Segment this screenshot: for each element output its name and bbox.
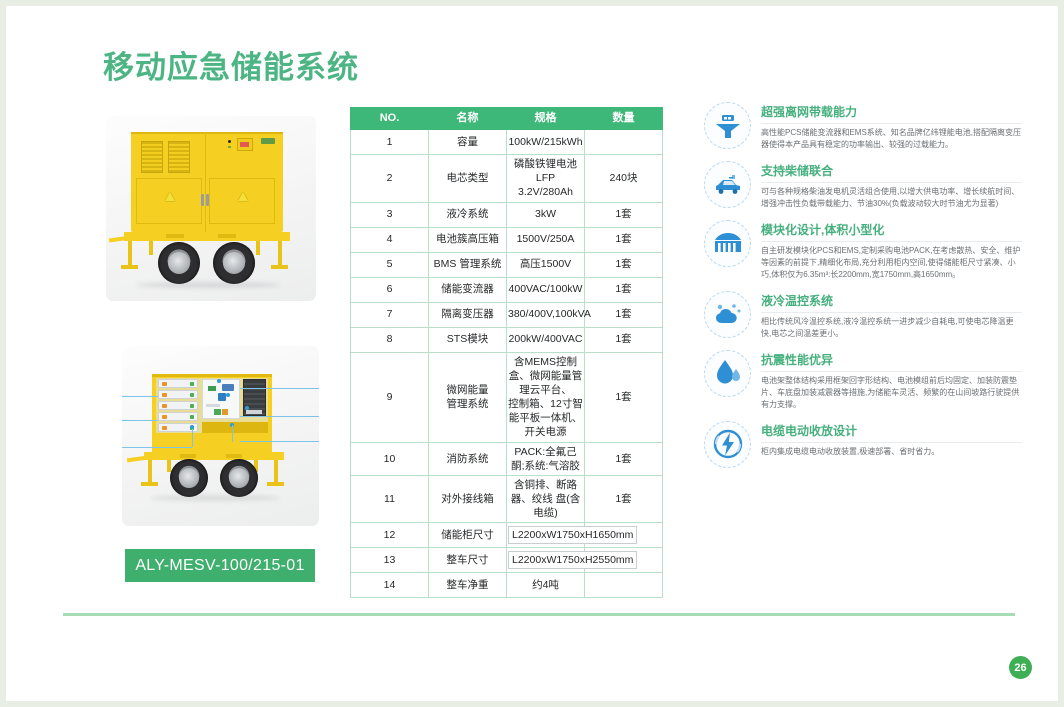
cell-spec: 3kW: [507, 202, 585, 227]
feature-description: 相比传统风冷温控系统,液冷温控系统一进步减少自耗电,可使电芯降温更快,电芯之间温…: [761, 312, 1022, 341]
cell-spec: 含MEMS控制盒、微网能量管理云平台、控制箱、12寸智能平板一体机、开关电源: [507, 352, 585, 442]
feature-item: 模块化设计,体积小型化自主研发模块化PCS和EMS,定制采购电池PACK,在考虑…: [704, 220, 1022, 282]
cell-spec: 380/400V,100kVA: [507, 302, 585, 327]
feature-item: 电缆电动收放设计柜内集成电缆电动收放装置,极速部署、省时省力。: [704, 421, 1022, 468]
feature-body: 抗震性能优异电池架整体结构采用框架回字形结构、电池模组前后均固定、加装防震垫片、…: [761, 350, 1022, 412]
lightning-bolt-icon: [704, 421, 751, 468]
feature-description: 高性能PCS储能变流器和EMS系统、知名品牌亿纬锂能电池,搭配隔离变压器使得本产…: [761, 123, 1022, 152]
cell-no: 11: [351, 475, 429, 523]
cell-qty: 1套: [585, 277, 663, 302]
feature-title: 超强离网带载能力: [761, 103, 1022, 120]
feature-item: 超强离网带载能力高性能PCS储能变流器和EMS系统、知名品牌亿纬锂能电池,搭配隔…: [704, 102, 1022, 152]
table-row: 6储能变流器400VAC/100kW1套: [351, 277, 663, 302]
feature-description: 柜内集成电缆电动收放装置,极速部署、省时省力。: [761, 442, 1022, 458]
cell-name: BMS 管理系统: [429, 252, 507, 277]
table-row: 5BMS 管理系统高压1500V1套: [351, 252, 663, 277]
feature-title: 电缆电动收放设计: [761, 422, 1022, 439]
column-header-no: NO.: [351, 108, 429, 130]
feature-body: 超强离网带载能力高性能PCS储能变流器和EMS系统、知名品牌亿纬锂能电池,搭配隔…: [761, 102, 1022, 152]
cell-no: 1: [351, 130, 429, 155]
cell-name: 电池簇高压箱: [429, 227, 507, 252]
feature-body: 模块化设计,体积小型化自主研发模块化PCS和EMS,定制采购电池PACK,在考虑…: [761, 220, 1022, 282]
feature-description: 自主研发模块化PCS和EMS,定制采购电池PACK,在考虑散热、安全、维护等因素…: [761, 241, 1022, 282]
cell-name: 整车净重: [429, 573, 507, 598]
table-row: 11对外接线箱含铜排、断路器、绞线 盘(含电缆)1套: [351, 475, 663, 523]
table-row: 12储能柜尺寸L2200xW1750xH1650mm: [351, 523, 663, 548]
electric-car-charging-icon: [704, 161, 751, 208]
table-row: 13整车尺寸L2200xW1750xH2550mm: [351, 548, 663, 573]
cell-no: 14: [351, 573, 429, 598]
cell-name: 储能变流器: [429, 277, 507, 302]
table-row: 9微网能量管理系统含MEMS控制盒、微网能量管理云平台、控制箱、12寸智能平板一…: [351, 352, 663, 442]
cell-spec: 200kW/400VAC: [507, 327, 585, 352]
column-header-spec: 规格: [507, 108, 585, 130]
cell-name: 容量: [429, 130, 507, 155]
cell-name: 对外接线箱: [429, 475, 507, 523]
cell-no: 2: [351, 155, 429, 203]
feature-body: 液冷温控系统相比传统风冷温控系统,液冷温控系统一进步减少自耗电,可使电芯降温更快…: [761, 291, 1022, 341]
specification-table: NO. 名称 规格 数量 1容量100kW/215kWh2电芯类型磷酸铁锂电池 …: [350, 107, 663, 598]
slide-canvas: 移动应急储能系统: [0, 0, 1064, 707]
page-title: 移动应急储能系统: [103, 42, 359, 87]
cell-spec: L2200xW1750xH2550mm: [507, 548, 585, 573]
feature-item: 抗震性能优异电池架整体结构采用框架回字形结构、电池模组前后均固定、加装防震垫片、…: [704, 350, 1022, 412]
cell-qty: 1套: [585, 475, 663, 523]
cell-no: 3: [351, 202, 429, 227]
table-row: 8STS模块200kW/400VAC1套: [351, 327, 663, 352]
table-row: 2电芯类型磷酸铁锂电池 LFP 3.2V/280Ah240块: [351, 155, 663, 203]
table-row: 7隔离变压器380/400V,100kVA1套: [351, 302, 663, 327]
cell-spec: PACK:全氟己酮;系统:气溶胶: [507, 442, 585, 475]
table-row: 3液冷系统3kW1套: [351, 202, 663, 227]
feature-list: 超强离网带载能力高性能PCS储能变流器和EMS系统、知名品牌亿纬锂能电池,搭配隔…: [704, 102, 1022, 477]
cell-no: 5: [351, 252, 429, 277]
feature-item: 液冷温控系统相比传统风冷温控系统,液冷温控系统一进步减少自耗电,可使电芯降温更快…: [704, 291, 1022, 341]
cell-name: STS模块: [429, 327, 507, 352]
cell-qty: 1套: [585, 352, 663, 442]
table-row: 4电池簇高压箱1500V/250A1套: [351, 227, 663, 252]
feature-description: 电池架整体结构采用框架回字形结构、电池模组前后均固定、加装防震垫片、车底盘加装减…: [761, 371, 1022, 412]
cell-name: 整车尺寸: [429, 548, 507, 573]
cell-qty: [585, 573, 663, 598]
cell-spec: 含铜排、断路器、绞线 盘(含电缆): [507, 475, 585, 523]
cell-no: 10: [351, 442, 429, 475]
modular-rack-icon: [704, 220, 751, 267]
table-row: 14整车净重约4吨: [351, 573, 663, 598]
cell-no: 12: [351, 523, 429, 548]
cell-no: 4: [351, 227, 429, 252]
bottom-divider: [63, 613, 1015, 616]
cell-no: 13: [351, 548, 429, 573]
column-header-qty: 数量: [585, 108, 663, 130]
cell-qty: 1套: [585, 202, 663, 227]
cell-spec: 磷酸铁锂电池 LFP 3.2V/280Ah: [507, 155, 585, 203]
cell-qty: 240块: [585, 155, 663, 203]
cell-qty: 1套: [585, 327, 663, 352]
table-row: 1容量100kW/215kWh: [351, 130, 663, 155]
battery-funnel-icon: [704, 102, 751, 149]
table-body: 1容量100kW/215kWh2电芯类型磷酸铁锂电池 LFP 3.2V/280A…: [351, 130, 663, 598]
cell-spec: 400VAC/100kW: [507, 277, 585, 302]
cell-no: 9: [351, 352, 429, 442]
cell-name: 消防系统: [429, 442, 507, 475]
product-photo-closed-trailer: [106, 116, 316, 301]
cell-spec: L2200xW1750xH1650mm: [507, 523, 585, 548]
feature-title: 模块化设计,体积小型化: [761, 221, 1022, 238]
cell-name: 电芯类型: [429, 155, 507, 203]
cell-qty: 1套: [585, 252, 663, 277]
table-row: 10消防系统PACK:全氟己酮;系统:气溶胶1套: [351, 442, 663, 475]
cell-no: 8: [351, 327, 429, 352]
column-header-name: 名称: [429, 108, 507, 130]
cell-spec: 100kW/215kWh: [507, 130, 585, 155]
cell-spec: 高压1500V: [507, 252, 585, 277]
feature-body: 支持柴储联合可与各种规格柴油发电机灵活组合使用,以增大供电功率、增长续航时间、增…: [761, 161, 1022, 211]
product-photo-open-trailer: [122, 346, 319, 526]
cell-qty: 1套: [585, 302, 663, 327]
cell-qty: 1套: [585, 227, 663, 252]
cell-spec: 1500V/250A: [507, 227, 585, 252]
table-header-row: NO. 名称 规格 数量: [351, 108, 663, 130]
feature-item: 支持柴储联合可与各种规格柴油发电机灵活组合使用,以增大供电功率、增长续航时间、增…: [704, 161, 1022, 211]
feature-description: 可与各种规格柴油发电机灵活组合使用,以增大供电功率、增长续航时间、增强冲击性负载…: [761, 182, 1022, 211]
cell-spec: 约4吨: [507, 573, 585, 598]
page-number-badge: 26: [1009, 656, 1032, 679]
feature-body: 电缆电动收放设计柜内集成电缆电动收放装置,极速部署、省时省力。: [761, 421, 1022, 468]
cloud-cooling-icon: [704, 291, 751, 338]
water-drop-icon: [704, 350, 751, 397]
cell-name: 微网能量管理系统: [429, 352, 507, 442]
cell-no: 6: [351, 277, 429, 302]
cell-name: 储能柜尺寸: [429, 523, 507, 548]
cell-qty: 1套: [585, 442, 663, 475]
cell-name: 隔离变压器: [429, 302, 507, 327]
cell-no: 7: [351, 302, 429, 327]
model-number-badge: ALY-MESV-100/215-01: [125, 549, 315, 582]
feature-title: 支持柴储联合: [761, 162, 1022, 179]
feature-title: 液冷温控系统: [761, 292, 1022, 309]
feature-title: 抗震性能优异: [761, 351, 1022, 368]
cell-name: 液冷系统: [429, 202, 507, 227]
cell-qty: [585, 130, 663, 155]
